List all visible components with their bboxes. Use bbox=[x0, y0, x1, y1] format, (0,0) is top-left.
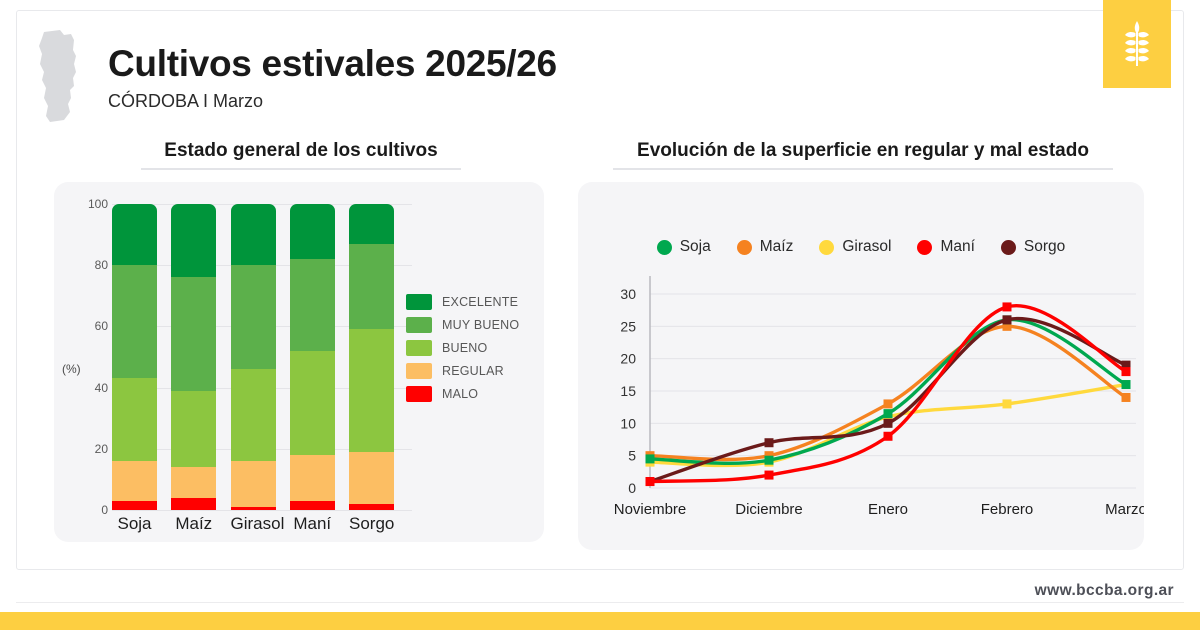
bar-segment bbox=[290, 501, 335, 510]
bar-column[interactable] bbox=[112, 204, 157, 510]
left-panel-title: Estado general de los cultivos bbox=[46, 140, 556, 162]
panel-evolucion: Evolución de la superficie en regular y … bbox=[578, 140, 1148, 560]
data-point-marker[interactable] bbox=[1003, 302, 1012, 311]
x-axis-label: Sorgo bbox=[349, 514, 394, 534]
x-axis-label: Girasol bbox=[231, 514, 276, 534]
page-title: Cultivos estivales 2025/26 bbox=[108, 44, 557, 85]
legend-item[interactable]: MUY BUENO bbox=[406, 313, 546, 336]
y-axis-tick: 30 bbox=[620, 286, 636, 302]
bar-segment bbox=[231, 265, 276, 369]
bar-segment bbox=[171, 391, 216, 468]
title-block: Cultivos estivales 2025/26 CÓRDOBA I Mar… bbox=[108, 44, 557, 112]
x-axis-label: Diciembre bbox=[735, 501, 803, 518]
data-point-marker[interactable] bbox=[646, 477, 655, 486]
bar-segment bbox=[112, 204, 157, 265]
bar-segment bbox=[112, 378, 157, 461]
bar-segment bbox=[290, 351, 335, 455]
bar-segment bbox=[112, 501, 157, 510]
line-chart-card: SojaMaízGirasolManíSorgo 051015202530Nov… bbox=[578, 182, 1144, 550]
infographic-page: Cultivos estivales 2025/26 CÓRDOBA I Mar… bbox=[0, 0, 1200, 630]
line-series bbox=[646, 315, 1131, 464]
data-point-marker[interactable] bbox=[765, 471, 774, 480]
right-panel-rule bbox=[613, 168, 1113, 170]
legend-item[interactable]: EXCELENTE bbox=[406, 290, 546, 313]
data-point-marker[interactable] bbox=[884, 399, 893, 408]
footer-divider bbox=[16, 602, 1184, 603]
legend-item[interactable]: MALO bbox=[406, 382, 546, 405]
y-axis-tick: 100 bbox=[70, 197, 108, 211]
bar-segment bbox=[349, 329, 394, 451]
bar-segment bbox=[171, 204, 216, 277]
bar-segment bbox=[171, 498, 216, 510]
bar-segment bbox=[231, 204, 276, 265]
page-subtitle: CÓRDOBA I Marzo bbox=[108, 91, 557, 112]
legend-label: EXCELENTE bbox=[442, 295, 518, 309]
bar-column[interactable] bbox=[231, 204, 276, 510]
bar-segment bbox=[112, 461, 157, 501]
cordoba-province-map-icon bbox=[30, 28, 92, 128]
line-chart-plot: 051015202530NoviembreDiciembreEneroFebre… bbox=[578, 182, 1144, 550]
legend-swatch-icon bbox=[406, 340, 432, 356]
bar-segment bbox=[290, 204, 335, 259]
bar-segment bbox=[290, 259, 335, 351]
wheat-stalk-icon bbox=[1122, 21, 1152, 67]
x-axis-label: Maní bbox=[290, 514, 335, 534]
legend-label: MALO bbox=[442, 387, 478, 401]
bar-segment bbox=[290, 455, 335, 501]
bar-segment bbox=[171, 277, 216, 390]
legend-swatch-icon bbox=[406, 294, 432, 310]
y-axis-tick: 25 bbox=[620, 318, 636, 334]
data-point-marker[interactable] bbox=[646, 454, 655, 463]
x-axis-label: Enero bbox=[868, 501, 908, 518]
bar-chart-x-axis: SojaMaízGirasolManíSorgo bbox=[112, 514, 394, 534]
data-point-marker[interactable] bbox=[1122, 393, 1131, 402]
left-panel-rule bbox=[141, 168, 461, 170]
y-axis-tick: 0 bbox=[70, 503, 108, 517]
bar-chart-card: 020406080100 (%) SojaMaízGirasolManíSorg… bbox=[54, 182, 544, 542]
bar-column[interactable] bbox=[349, 204, 394, 510]
bar-chart-y-axis: 020406080100 bbox=[70, 204, 108, 510]
y-axis-tick: 40 bbox=[70, 381, 108, 395]
legend-swatch-icon bbox=[406, 317, 432, 333]
bar-segment bbox=[349, 504, 394, 510]
y-axis-tick: 80 bbox=[70, 258, 108, 272]
panel-estado-general: Estado general de los cultivos 020406080… bbox=[46, 140, 556, 560]
bar-chart-y-axis-label: (%) bbox=[62, 362, 81, 376]
legend-item[interactable]: BUENO bbox=[406, 336, 546, 359]
bar-segment bbox=[112, 265, 157, 378]
bar-chart-bars bbox=[112, 204, 394, 510]
brand-badge bbox=[1103, 0, 1171, 88]
y-axis-tick: 20 bbox=[70, 442, 108, 456]
bar-segment bbox=[231, 461, 276, 507]
data-point-marker[interactable] bbox=[884, 409, 893, 418]
y-axis-tick: 10 bbox=[620, 415, 636, 431]
data-point-marker[interactable] bbox=[765, 456, 774, 465]
bar-segment bbox=[231, 369, 276, 461]
data-point-marker[interactable] bbox=[765, 438, 774, 447]
bar-segment bbox=[349, 452, 394, 504]
legend-swatch-icon bbox=[406, 363, 432, 379]
header: Cultivos estivales 2025/26 CÓRDOBA I Mar… bbox=[30, 22, 930, 122]
y-axis-tick: 20 bbox=[620, 351, 636, 367]
footer-website-url[interactable]: www.bccba.org.ar bbox=[1035, 582, 1174, 600]
data-point-marker[interactable] bbox=[1122, 380, 1131, 389]
bar-segment bbox=[349, 204, 394, 244]
data-point-marker[interactable] bbox=[884, 419, 893, 428]
y-axis-tick: 60 bbox=[70, 319, 108, 333]
legend-label: BUENO bbox=[442, 341, 487, 355]
legend-swatch-icon bbox=[406, 386, 432, 402]
legend-label: REGULAR bbox=[442, 364, 504, 378]
data-point-marker[interactable] bbox=[884, 432, 893, 441]
bar-segment bbox=[231, 507, 276, 510]
x-axis-label: Soja bbox=[112, 514, 157, 534]
bar-column[interactable] bbox=[290, 204, 335, 510]
bar-segment bbox=[171, 467, 216, 498]
legend-item[interactable]: REGULAR bbox=[406, 359, 546, 382]
x-axis-label: Noviembre bbox=[614, 501, 687, 518]
data-point-marker[interactable] bbox=[1003, 315, 1012, 324]
right-panel-title: Evolución de la superficie en regular y … bbox=[578, 140, 1148, 162]
footer-accent-bar bbox=[0, 612, 1200, 630]
y-axis-tick: 0 bbox=[628, 480, 636, 496]
bar-segment bbox=[349, 244, 394, 330]
gridline bbox=[112, 510, 412, 511]
x-axis-label: Maíz bbox=[171, 514, 216, 534]
legend-label: MUY BUENO bbox=[442, 318, 519, 332]
y-axis-tick: 15 bbox=[620, 383, 636, 399]
data-point-marker[interactable] bbox=[1003, 399, 1012, 408]
bar-column[interactable] bbox=[171, 204, 216, 510]
x-axis-label: Marzo bbox=[1105, 501, 1144, 518]
x-axis-label: Febrero bbox=[981, 501, 1034, 518]
bar-chart-legend: EXCELENTEMUY BUENOBUENOREGULARMALO bbox=[406, 290, 546, 405]
data-point-marker[interactable] bbox=[1122, 367, 1131, 376]
y-axis-tick: 5 bbox=[628, 448, 636, 464]
